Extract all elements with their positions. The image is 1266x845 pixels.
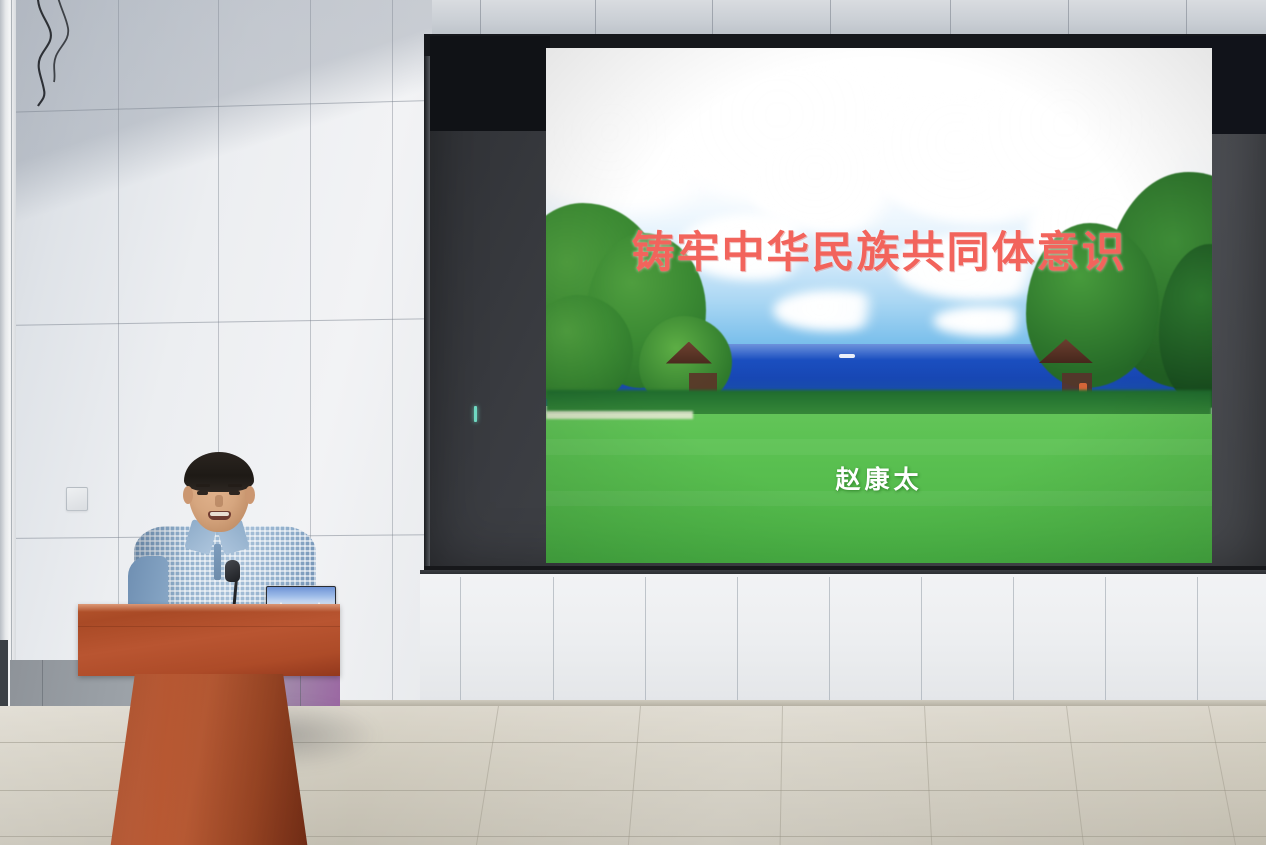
ear-right — [245, 486, 255, 504]
shirt-placket — [214, 544, 221, 580]
hanging-cable-icon — [10, 0, 90, 116]
hair — [184, 452, 254, 492]
light-switch-plate[interactable] — [66, 487, 88, 511]
lower-wall-seam — [460, 577, 461, 709]
lower-wall-seam — [1197, 577, 1198, 709]
lower-wall-seam — [829, 577, 830, 709]
wall-panel-seam — [392, 0, 393, 740]
eyebrow-right — [228, 484, 242, 487]
podium-desktop — [78, 604, 340, 676]
slide-vignette — [546, 48, 1212, 563]
led-wall-left-dark-panel — [430, 36, 550, 131]
nose — [215, 495, 223, 507]
podium-column-shading — [106, 674, 312, 845]
eye-right — [229, 491, 240, 495]
lower-wall-seam — [645, 577, 646, 709]
room-interior: 铸牢中华民族共同体意识 赵康太 — [0, 0, 1266, 845]
podium-wood-grain — [78, 626, 340, 627]
floor-baseboard — [340, 700, 1266, 706]
eyebrow-left — [196, 484, 210, 487]
lower-wall-seam — [1013, 577, 1014, 709]
presentation-slide: 铸牢中华民族共同体意识 赵康太 — [546, 48, 1212, 563]
led-wall-left-edge — [424, 56, 430, 571]
lower-wall-seam — [737, 577, 738, 709]
lower-wall-seam — [553, 577, 554, 709]
lower-wall-seam — [921, 577, 922, 709]
lecture-hall-photo: 铸牢中华民族共同体意识 赵康太 — [0, 0, 1266, 845]
podium-top-highlight — [78, 604, 340, 612]
ear-left — [183, 486, 193, 504]
lower-panel-wall — [420, 574, 1266, 709]
lower-wall-seam — [1105, 577, 1106, 709]
status-indicator-light — [474, 406, 477, 422]
teeth — [210, 512, 229, 516]
eye-left — [197, 491, 208, 495]
wooden-podium — [78, 604, 340, 845]
microphone-icon — [225, 560, 240, 582]
